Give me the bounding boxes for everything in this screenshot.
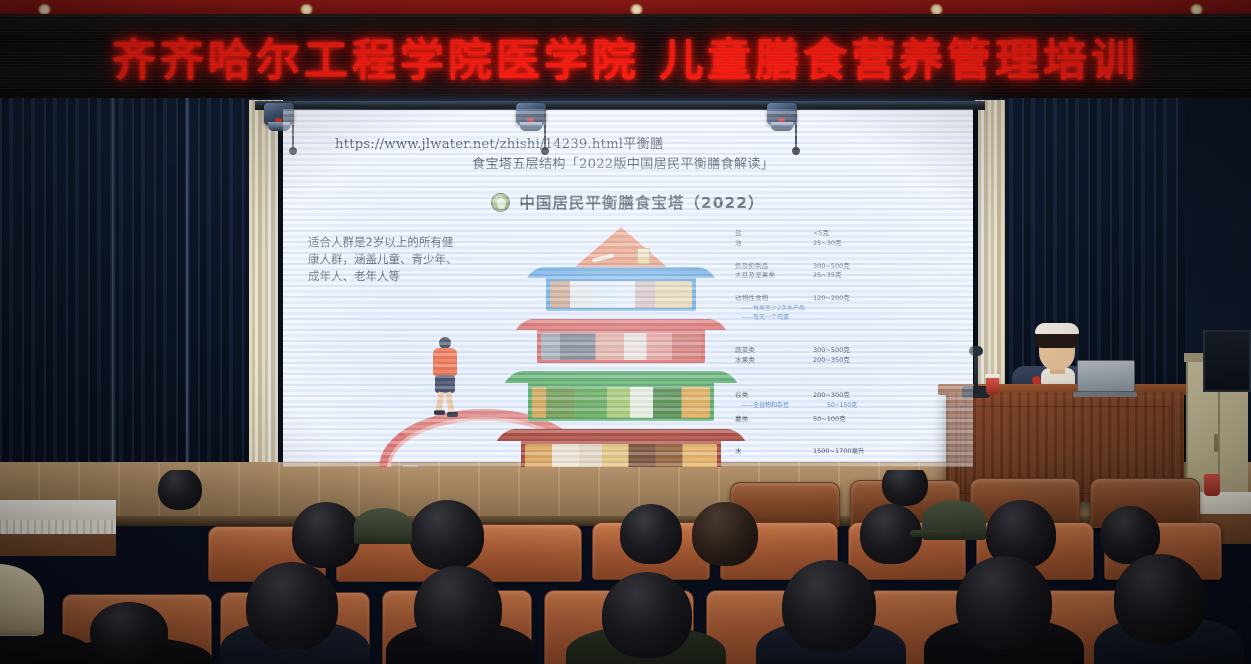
stage-light-fixture [262,103,296,135]
audience-hat-brim [0,628,44,635]
pyramid-layer-vegetables-fruits [528,371,714,421]
nutrition-group-water: 水1500~1700毫升 [735,447,953,457]
nutrition-subnote-value: 50~150克 [827,401,857,410]
nutrition-group: 蔬菜类300~500克 水果类200~350克 [735,346,953,366]
nutrition-society-emblem-icon [491,193,510,212]
slide-source-url: https://www.jlwater.net/zhishi/14239.htm… [335,135,935,175]
nutrition-item-value: 50~100克 [813,415,846,425]
nutrition-item-value: 200~350克 [813,356,850,366]
nutrition-group: 奶及奶制品300~500克 大豆及坚果类25~35克 [735,262,953,282]
nutrition-item-name: 盐 [735,229,813,239]
nutrition-item-name: 薯类 [735,415,813,425]
pyramid-layer-animal-foods [537,319,705,363]
nutrition-item-name: 蔬菜类 [735,346,813,356]
presentation-slide: https://www.jlwater.net/zhishi/14239.htm… [283,109,973,467]
nutrition-item-name: 奶及奶制品 [735,262,813,272]
nutrition-item-value: 1500~1700毫升 [813,447,865,457]
audience-head [158,470,202,510]
podium-paper-cup [986,377,999,395]
side-monitor [1203,330,1251,392]
lecture-hall-scene: 齐齐哈尔工程学院医学院 儿童膳食营养管理培训 https://www.jlwat… [0,0,1251,664]
curtain-edge-highlight [112,98,116,490]
stage-light-fixture [765,103,799,135]
slide-url-line2: 食宝塔五层结构「2022版中国居民平衡膳食解读」 [335,155,935,175]
audience-head [956,556,1052,650]
nutrition-subnote: ——每天一个鸡蛋 [741,313,827,322]
nutrition-subnote: ——每周至少2次水产品 [741,304,827,313]
pyramid-layer-dairy-soy [546,267,696,311]
audience-cap-icon [354,508,412,544]
nutrition-item-value: 300~500克 [813,346,850,356]
podium-laptop [1073,360,1135,398]
nutrition-amounts-list: 盐<5克 油25~30克 奶及奶制品300~500克 大豆及坚果类25~35克 … [735,229,953,467]
audience-head [620,504,682,564]
audience-head [602,572,692,658]
audience-beanie-icon [0,564,44,636]
nutrition-item-name: 动物性食物 [735,294,813,304]
nutrition-item-value: 200~300克 [813,391,850,401]
podium-microphone [974,352,978,394]
audience-cap-brim [910,530,962,537]
stage-light-fixture [514,103,548,135]
food-pyramid-graphic [521,227,721,439]
nutrition-item-value: 25~30克 [813,239,842,249]
audience-head [782,560,876,652]
nutrition-item-name: 大豆及坚果类 [735,271,813,281]
slide-title: 中国居民平衡膳食宝塔（2022） [283,191,973,213]
nutrition-item-value: 120~200克 [813,294,850,304]
projection-screen-frame: https://www.jlwater.net/zhishi/14239.htm… [278,104,978,472]
audience-head [1114,554,1206,644]
audience-head [414,566,502,650]
slide-title-text: 中国居民平衡膳食宝塔（2022） [519,194,764,212]
audience-head [292,502,360,568]
nutrition-item-name: 油 [735,239,813,249]
nutrition-item-value: 300~500克 [813,262,850,272]
audience-area [0,470,1251,664]
projection-screen: https://www.jlwater.net/zhishi/14239.htm… [283,109,973,467]
pyramid-salt-oil-items [586,247,656,267]
nutrition-subnote: ——全谷物和杂豆 [741,401,827,410]
audience-head [692,502,758,566]
audience-head [410,500,484,570]
stage-curtain-left [0,98,258,490]
audience-head [90,602,168,662]
nutrition-item-name: 水果类 [735,356,813,366]
curtain-edge-highlight [186,98,190,490]
stage-light-bar [255,101,985,110]
nutrition-group: 谷类200~300克 ——全谷物和杂豆50~150克 薯类50~100克 [735,391,953,425]
nutrition-group: 盐<5克 油25~30克 [735,229,953,249]
audience-head [246,562,338,650]
led-banner-text: 齐齐哈尔工程学院医学院 儿童膳食营养管理培训 [0,24,1251,88]
slide-url-line1: https://www.jlwater.net/zhishi/14239.htm… [335,137,663,152]
led-banner: 齐齐哈尔工程学院医学院 儿童膳食营养管理培训 [0,14,1251,98]
nutrition-group: 动物性食物120~200克 ——每周至少2次水产品 ——每天一个鸡蛋 [735,294,953,322]
water-glass-icon [403,465,418,467]
runner-figure-icon [428,337,462,415]
nutrition-item-value: <5克 [813,229,829,239]
nutrition-item-name: 谷类 [735,391,813,401]
oil-bottle-icon [637,248,650,265]
slide-target-population-note: 适合人群是2岁以上的所有健康人群，涵盖儿童、青少年、成年人、老年人等 [308,234,458,285]
salt-spoon-icon [592,253,614,262]
headband [1035,323,1079,334]
audience-head [882,470,928,506]
nutrition-item-name: 水 [735,447,813,457]
nutrition-item-value: 25~35克 [813,271,842,281]
pyramid-layer-grains-tubers [521,429,721,467]
